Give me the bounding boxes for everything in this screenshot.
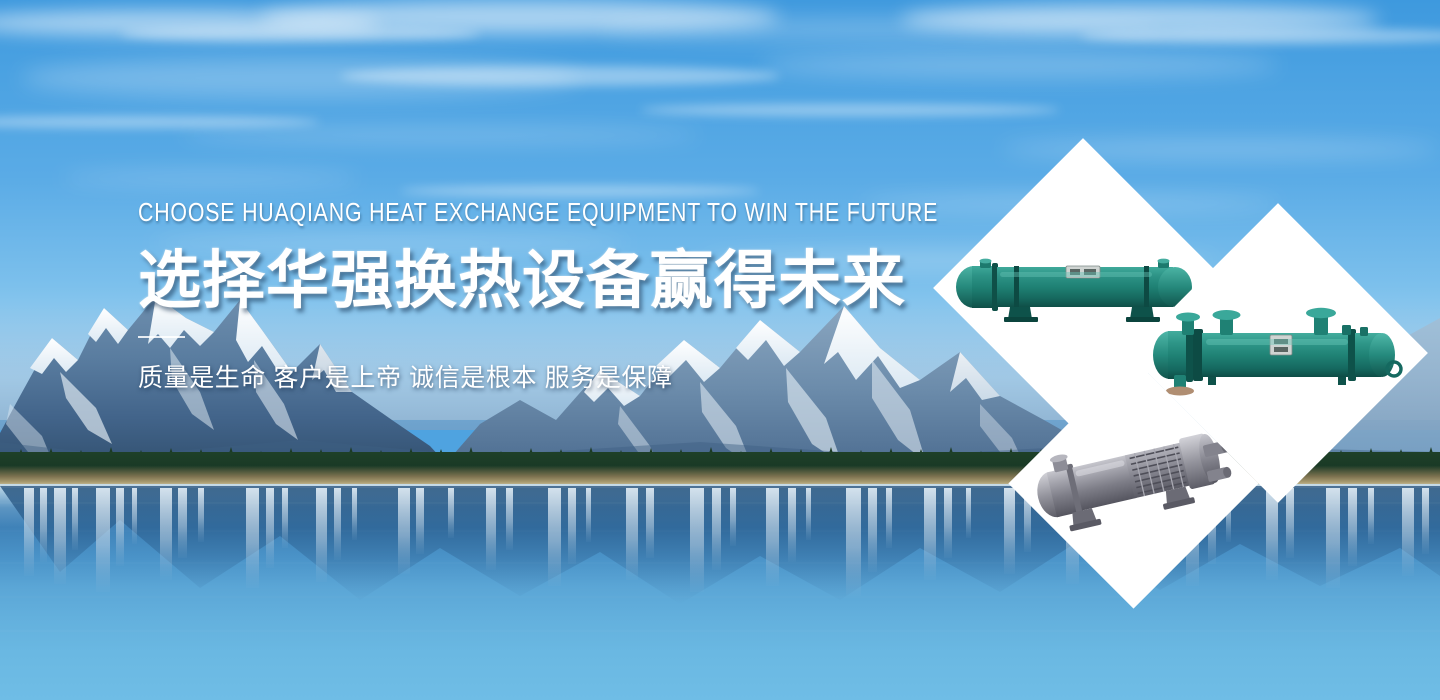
flanged-heat-exchanger-image (1146, 307, 1410, 399)
hero-headline-chinese: 选择华强换热设备赢得未来 (138, 244, 898, 318)
hero-tagline-english: CHOOSE HUAQIANG HEAT EXCHANGE EQUIPMENT … (138, 196, 761, 228)
hero-divider (138, 336, 185, 338)
hero-banner: CHOOSE HUAQIANG HEAT EXCHANGE EQUIPMENT … (0, 0, 1440, 700)
hero-text-block: CHOOSE HUAQIANG HEAT EXCHANGE EQUIPMENT … (138, 196, 898, 394)
oil-cooler-image (1024, 432, 1244, 536)
hero-subtitle-chinese: 质量是生命 客户是上帝 诚信是根本 服务是保障 (138, 358, 898, 394)
